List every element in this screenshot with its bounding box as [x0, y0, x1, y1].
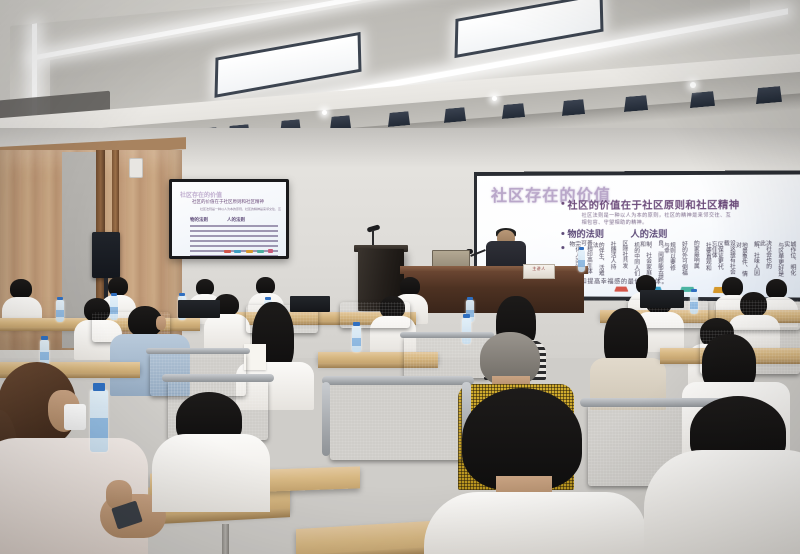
- boat-icon: [224, 250, 231, 253]
- name-plate-text: 主讲人: [524, 266, 554, 272]
- mini-slide-bullet: 社区的价值在于社区原则和社区精神: [192, 199, 264, 205]
- attendee-face: [156, 316, 166, 330]
- attendee-torso: [152, 434, 270, 512]
- slide-vertical-column: 机的中同人们: [632, 242, 638, 276]
- slide-vertical-column: 区除社共发: [620, 240, 626, 271]
- wall-control-panel[interactable]: [129, 158, 143, 178]
- chair-frame-arm: [322, 382, 330, 456]
- slide-note-line-1: 社区法则是一种以人为本的原则，社区的精神是来邻交往、互: [582, 212, 732, 219]
- desk-leg: [222, 524, 229, 554]
- slide-vertical-column: 决社会也的此: [758, 240, 770, 272]
- bottle-cap: [463, 314, 470, 318]
- slide-vertical-column: 制、社会家庭和: [638, 241, 650, 279]
- slide-note-line-2: 相包容、守望相助的精神。: [582, 219, 648, 226]
- attendee-man-white-foreground: [420, 388, 660, 554]
- mini-slide-h2-left: 物的法则: [190, 217, 208, 223]
- conference-room-photo: 社区存在的价值 社区的价值在于社区原则和社区精神 社区法则是一种以人为本的原则，…: [0, 0, 800, 554]
- attendee-hair: [462, 388, 582, 490]
- mini-slide-note: 社区法则是一种以人为本的原则，社区的精神是来邻交往、互: [200, 207, 281, 211]
- ship-icon: [234, 250, 241, 253]
- mini-slide-h2-right: 人的法则: [227, 217, 245, 223]
- downlight-icon: [322, 110, 327, 115]
- attendee-man-white-left: [150, 392, 280, 512]
- slide-bullet-marker: [561, 232, 564, 235]
- slide-bullet-1: 社区的价值在于社区原则和社区精神: [567, 196, 739, 212]
- downlight-icon: [690, 82, 696, 88]
- attendee-torso: [424, 492, 646, 554]
- vehicle-icon: [257, 250, 264, 253]
- bottle-label: [578, 260, 585, 267]
- chair-frame: [322, 376, 474, 385]
- attendee-torso: [644, 450, 800, 554]
- attendee-woman-white-foreground: [636, 398, 800, 554]
- slide-vertical-column: 的伴生、活难法: [591, 242, 603, 279]
- star-icon: [268, 249, 273, 253]
- mini-slide-title: 社区存在的价值: [180, 190, 222, 199]
- ceiling-speaker-icon: [444, 107, 466, 123]
- slide-heading-ren: 人的法则: [631, 227, 668, 240]
- slide-vertical-column: 好的外可倒福: [680, 241, 686, 276]
- ceiling-speaker-icon: [388, 111, 410, 127]
- ceiling-speaker-icon: [690, 91, 715, 108]
- bottle-cap: [93, 383, 105, 391]
- bottle-label: [90, 418, 108, 438]
- bottle-cap: [353, 322, 360, 326]
- slide-heading-wu: 物的法则: [567, 227, 604, 240]
- floor-standing-speaker: [92, 232, 120, 278]
- slide-vertical-column: 规则以要修与幸: [662, 242, 674, 273]
- ceiling-speaker-icon: [624, 95, 648, 112]
- downlight-icon: [492, 96, 497, 101]
- wall-mounted-monitor[interactable]: 社区存在的价值 社区的价值在于社区原则和社区精神 社区法则是一种以人为本的原则，…: [169, 179, 289, 259]
- ceiling-speaker-icon: [502, 103, 525, 119]
- slide-vertical-column: 城作位、明化实: [782, 241, 794, 279]
- monitor-screen: 社区存在的价值 社区的价值在于社区原则和社区精神 社区法则是一种以人为本的原则，…: [172, 182, 286, 256]
- face-mask: [64, 404, 86, 430]
- bottle-cap: [579, 247, 584, 250]
- slide-vertical-column: 设这接有社会载: [722, 240, 734, 275]
- ceiling-speaker-icon: [756, 86, 782, 104]
- water-bottle: [90, 390, 108, 452]
- water-bottle: [578, 250, 585, 272]
- slide-vertical-column: 区保证更代忘住体: [710, 241, 722, 273]
- slide-vertical-column: 与区单更好是: [776, 242, 782, 277]
- slide-vertical-column: 的家最响属: [692, 240, 698, 278]
- chair-frame: [400, 332, 494, 338]
- slide-bullet-marker: [561, 202, 564, 205]
- ceiling-speaker-icon: [562, 99, 585, 116]
- car-icon: [246, 250, 253, 253]
